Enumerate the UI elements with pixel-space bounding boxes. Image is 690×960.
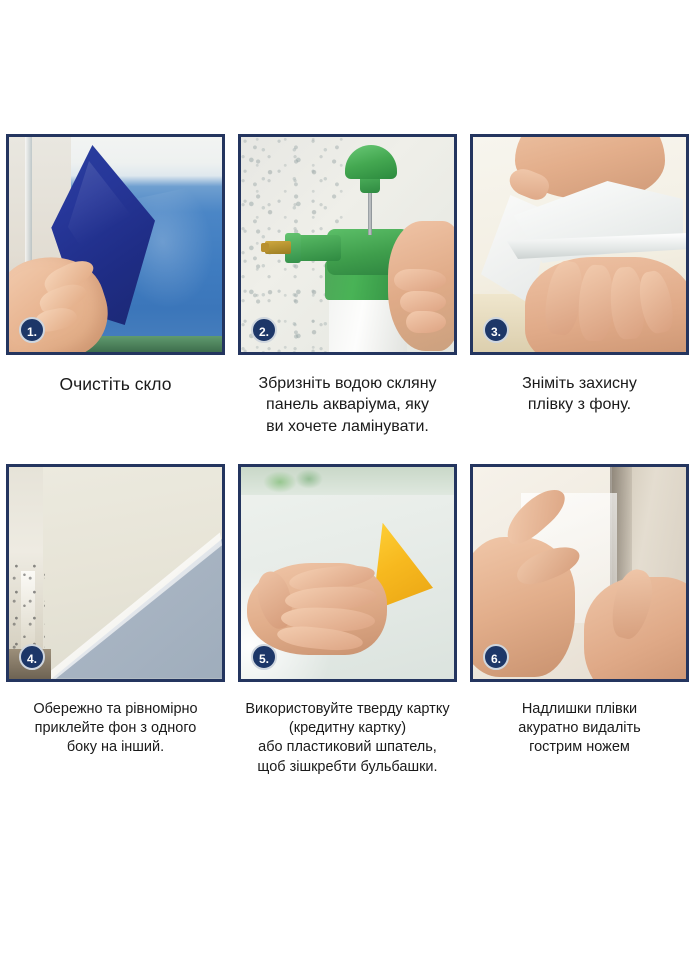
step-cell-2: 2. Збризніть водою скляну панель акваріу… <box>238 134 457 437</box>
step-cell-5: 5. Використовуйте тверду картку (кредитн… <box>238 464 457 777</box>
step-cell-6: 6. Надлишки плівки акуратно видаліть гос… <box>470 464 689 777</box>
step-caption-5: Використовуйте тверду картку (кредитну к… <box>245 700 449 777</box>
step-badge-4: 4. <box>19 644 45 670</box>
step-badge-3: 3. <box>483 317 509 343</box>
step-badge-1: 1. <box>19 317 45 343</box>
step-badge-2: 2. <box>251 317 277 343</box>
step-caption-4: Обережно та рівномірно приклейте фон з о… <box>33 700 197 758</box>
step-photo-frame-2: 2. <box>238 134 457 355</box>
step-photo-frame-6: 6. <box>470 464 689 682</box>
step-cell-4: 4. Обережно та рівномірно приклейте фон … <box>6 464 225 777</box>
step-badge-5: 5. <box>251 644 277 670</box>
step-badge-6: 6. <box>483 644 509 670</box>
step-photo-frame-4: 4. <box>6 464 225 682</box>
step-cell-3: 3. Зніміть захисну плівку з фону. <box>470 134 689 437</box>
steps-row-bottom: 4. Обережно та рівномірно приклейте фон … <box>0 437 690 777</box>
instruction-sheet: 1. Очистіть скло <box>0 0 690 960</box>
steps-row-top: 1. Очистіть скло <box>0 0 690 437</box>
step-caption-3: Зніміть захисну плівку з фону. <box>522 373 637 416</box>
step-photo-frame-5: 5. <box>238 464 457 682</box>
step-photo-frame-3: 3. <box>470 134 689 355</box>
step-caption-6: Надлишки плівки акуратно видаліть гостри… <box>518 700 640 758</box>
step-caption-2: Збризніть водою скляну панель акваріума,… <box>258 373 436 437</box>
step-caption-1: Очистіть скло <box>60 373 172 396</box>
step-photo-frame-1: 1. <box>6 134 225 355</box>
step-cell-1: 1. Очистіть скло <box>6 134 225 437</box>
